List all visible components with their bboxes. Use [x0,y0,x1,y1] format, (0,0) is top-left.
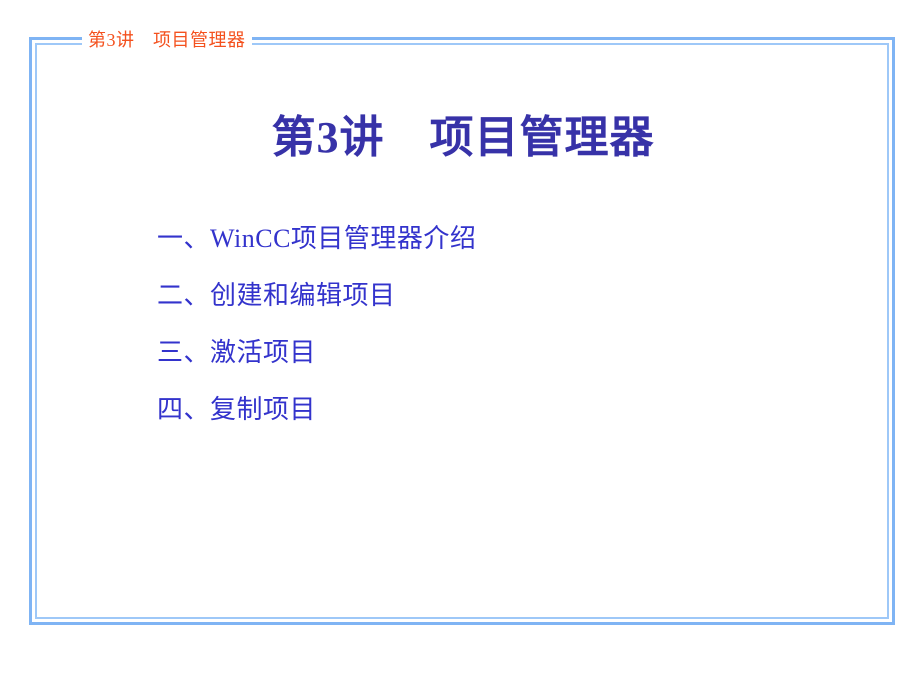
slide-header-caption: 第3讲 项目管理器 [82,26,252,52]
agenda-item-2: 二、创建和编辑项目 [157,278,797,335]
agenda-list: 一、WinCC项目管理器介绍 二、创建和编辑项目 三、激活项目 四、复制项目 [157,221,797,449]
page-title: 第3讲 项目管理器 [0,101,920,165]
agenda-item-3: 三、激活项目 [157,335,797,392]
agenda-item-4: 四、复制项目 [157,392,797,449]
agenda-item-1: 一、WinCC项目管理器介绍 [157,221,797,278]
slide-canvas: 第3讲 项目管理器 第3讲 项目管理器 一、WinCC项目管理器介绍 二、创建和… [0,0,920,690]
